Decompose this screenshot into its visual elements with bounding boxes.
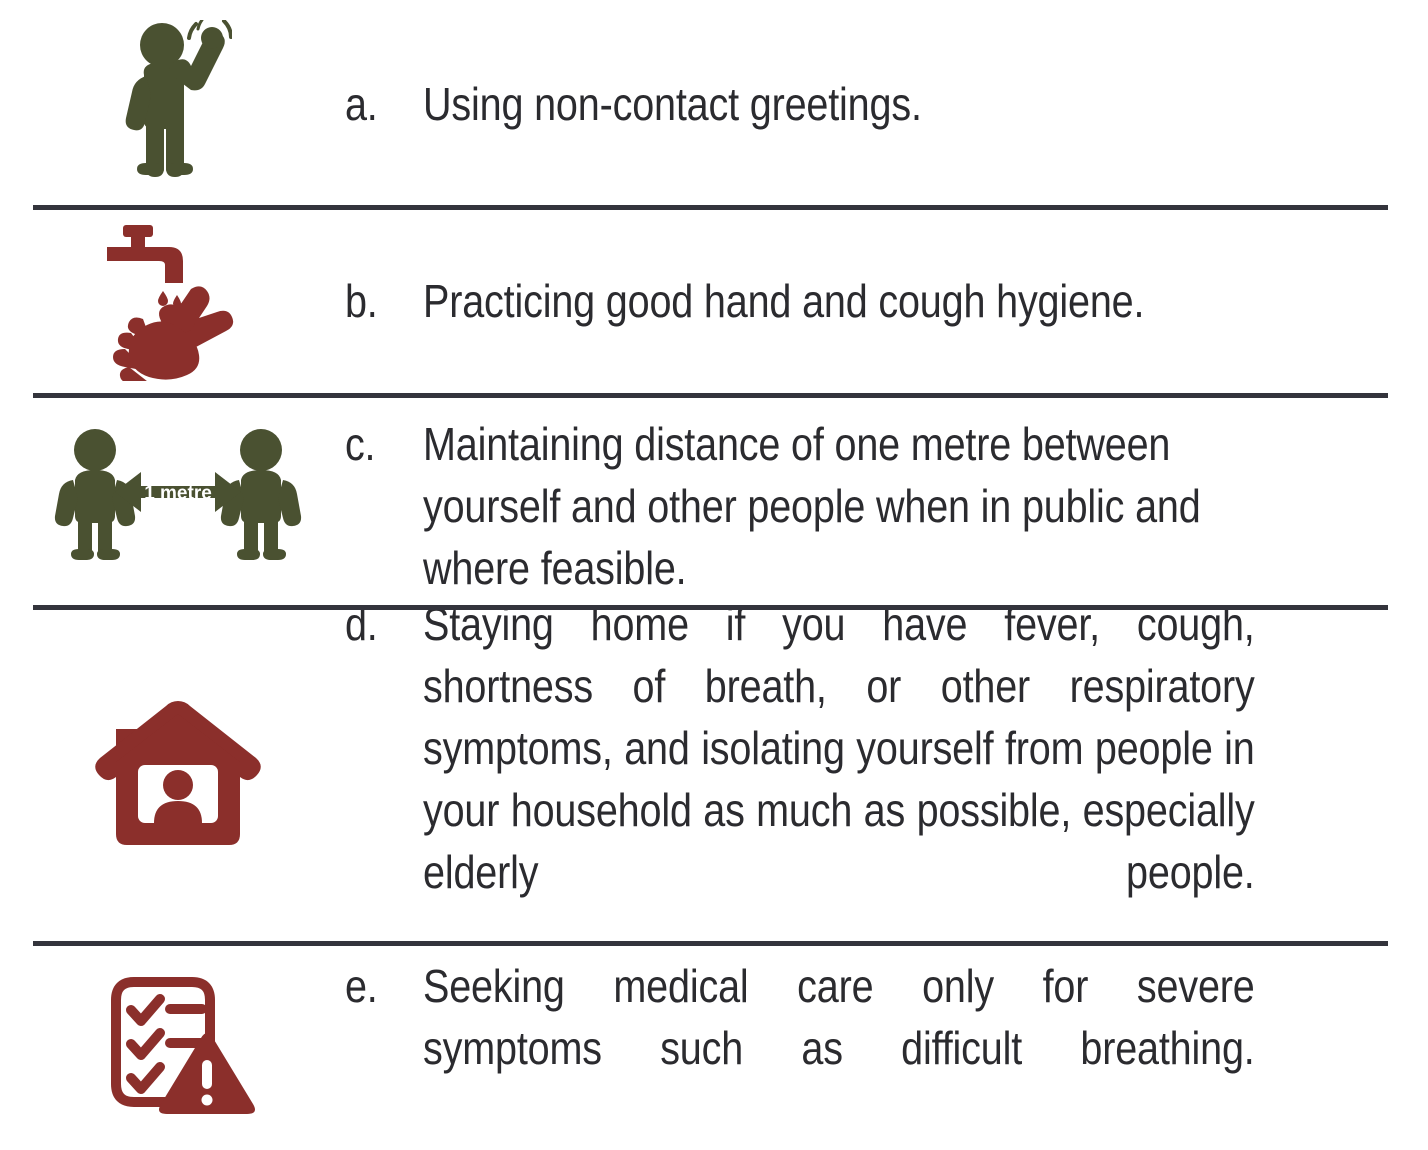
icon-cell — [0, 0, 345, 207]
item-text: Seeking medical care only for severe sym… — [423, 955, 1255, 1141]
list-item: 1 metre c. Maintaining distance of one m… — [0, 395, 1428, 607]
icon-cell — [0, 207, 345, 395]
icon-cell — [0, 943, 345, 1143]
distance-label: 1 metre — [144, 483, 212, 504]
row-divider — [33, 205, 1388, 210]
item-marker: e. — [345, 955, 412, 1017]
list-item: a. Using non-contact greetings. — [0, 0, 1428, 207]
icon-cell — [0, 607, 345, 943]
row-divider — [33, 393, 1388, 398]
text-cell: d. Staying home if you have fever, cough… — [345, 585, 1428, 965]
list-item: d. Staying home if you have fever, cough… — [0, 607, 1428, 943]
item-marker: a. — [345, 73, 412, 135]
text-cell: b. Practicing good hand and cough hygien… — [345, 270, 1428, 332]
list-item: e. Seeking medical care only for severe … — [0, 943, 1428, 1143]
item-marker: b. — [345, 270, 412, 332]
handwashing-tap-icon — [103, 221, 253, 381]
waving-person-icon — [124, 20, 232, 188]
stay-home-house-icon — [94, 699, 262, 851]
guidance-rows: a. Using non-contact greetings. — [0, 0, 1428, 1143]
social-distancing-icon: 1 metre — [53, 426, 303, 576]
icon-cell: 1 metre — [0, 395, 345, 607]
row-divider — [33, 605, 1388, 610]
text-cell: c. Maintaining distance of one metre bet… — [345, 403, 1428, 599]
text-cell: a. Using non-contact greetings. — [345, 73, 1428, 135]
list-item: b. Practicing good hand and cough hygien… — [0, 207, 1428, 395]
guidance-list-sheet: a. Using non-contact greetings. — [0, 0, 1428, 1150]
text-cell: e. Seeking medical care only for severe … — [345, 945, 1428, 1141]
item-text: Practicing good hand and cough hygiene. — [423, 270, 1255, 332]
item-text: Using non-contact greetings. — [423, 73, 1255, 135]
item-marker: c. — [345, 413, 412, 475]
row-divider — [33, 941, 1388, 946]
item-text: Staying home if you have fever, cough, s… — [423, 593, 1255, 965]
item-text: Maintaining distance of one metre betwee… — [423, 413, 1255, 599]
item-marker: d. — [345, 593, 412, 655]
checklist-warning-icon — [98, 964, 258, 1122]
